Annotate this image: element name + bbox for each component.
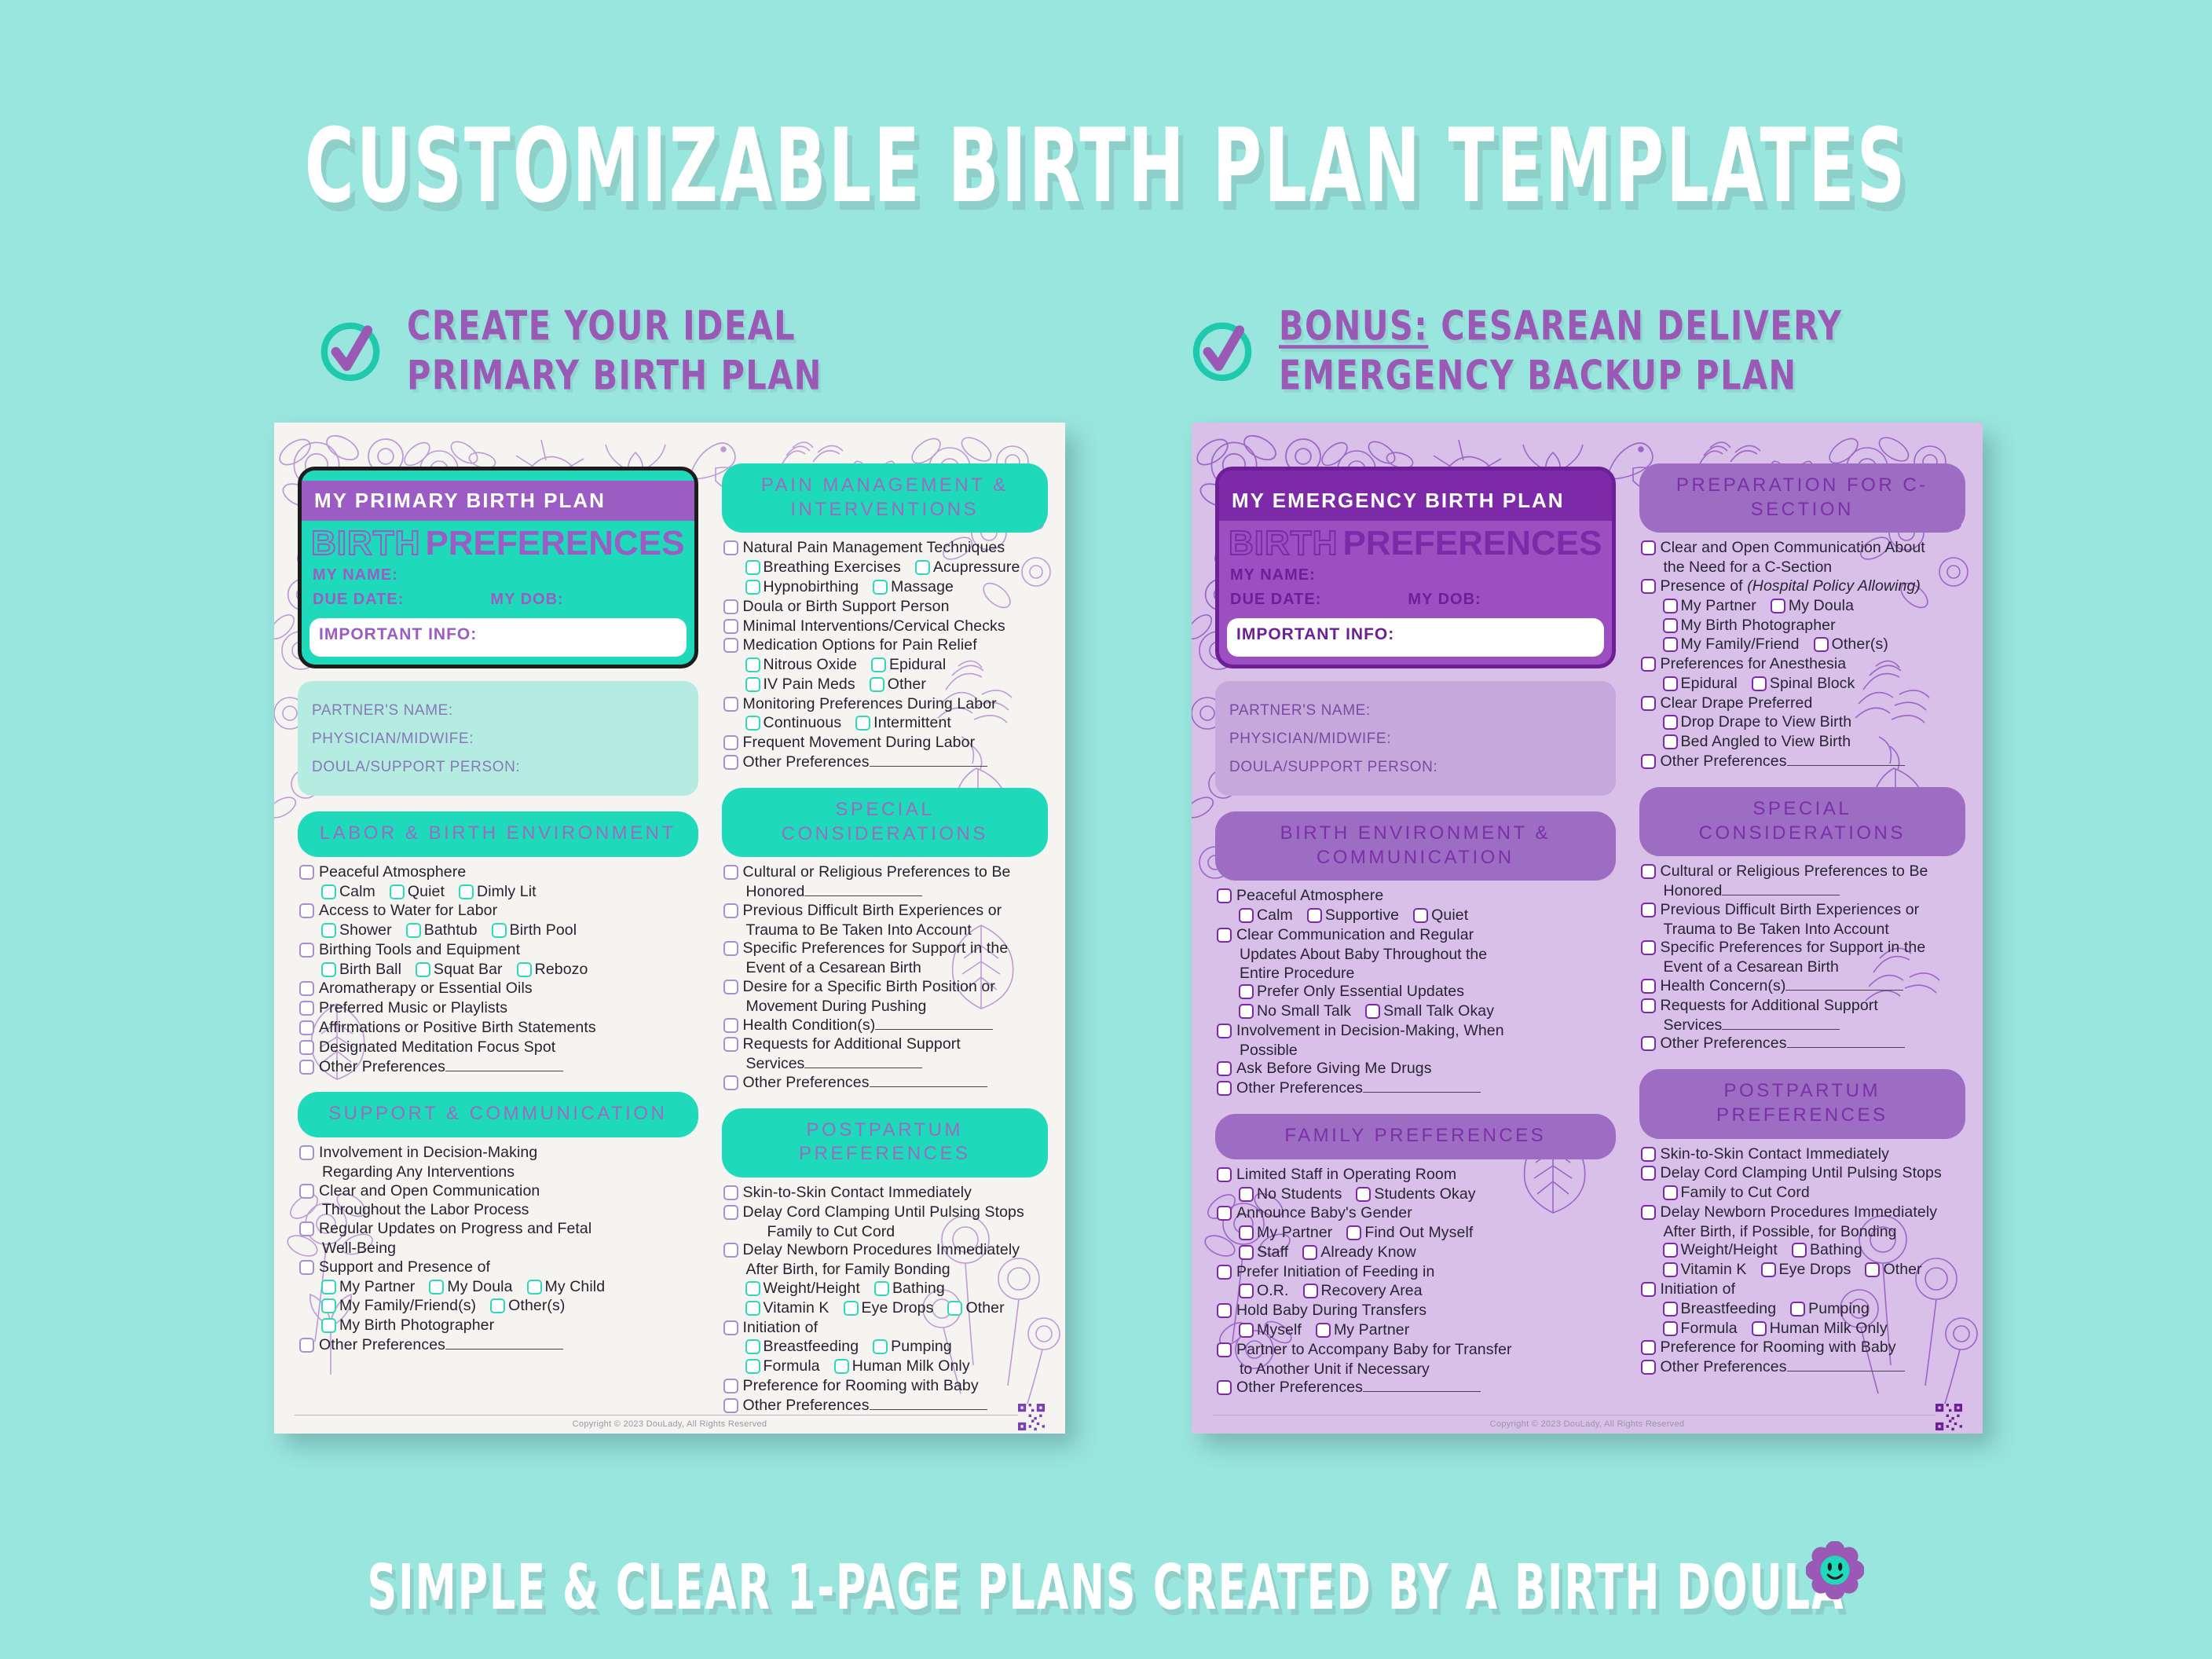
checkbox-option[interactable]: My Child	[527, 1278, 606, 1297]
checklist-item[interactable]: Skin-to-Skin Contact Immediately	[1641, 1145, 1962, 1164]
checkbox-icon[interactable]	[723, 980, 738, 994]
checkbox-option[interactable]: Other(s)	[490, 1297, 565, 1316]
checklist-item[interactable]: Specific Preferences for Support in the	[1641, 939, 1962, 958]
checkbox-icon[interactable]	[1239, 1225, 1254, 1240]
checklist-item[interactable]: Preference for Rooming with Baby	[723, 1377, 1045, 1396]
checkbox-option[interactable]: My Birth Photographer	[1663, 617, 1836, 635]
checkbox-icon[interactable]	[299, 865, 314, 880]
checkbox-icon[interactable]	[1663, 599, 1678, 613]
checkbox-icon[interactable]	[299, 1001, 314, 1016]
checkbox-option[interactable]: Students Okay	[1356, 1185, 1475, 1204]
checklist-item[interactable]: Partner to Accompany Baby for Transfer	[1217, 1341, 1613, 1360]
checklist-item[interactable]: Access to Water for Labor	[299, 902, 695, 921]
checklist-item[interactable]: Involvement in Decision-Making, When	[1217, 1022, 1613, 1041]
checklist-item[interactable]: Clear Drape Preferred	[1641, 694, 1962, 713]
checkbox-option[interactable]: Hypnobirthing	[745, 578, 859, 597]
checkbox-option[interactable]: Prefer Only Essential Updates	[1239, 983, 1464, 1002]
checkbox-icon[interactable]	[1641, 657, 1656, 672]
checkbox-icon[interactable]	[1217, 888, 1232, 903]
write-in-line[interactable]	[1363, 1081, 1481, 1093]
write-in-line[interactable]	[1787, 1036, 1905, 1048]
checklist-item[interactable]: Other Preferences	[1217, 1379, 1613, 1397]
checkbox-option[interactable]: Nitrous Oxide	[745, 656, 857, 675]
checkbox-icon[interactable]	[723, 1320, 738, 1335]
checklist-item[interactable]: Other Preferences	[723, 753, 1045, 772]
checkbox-icon[interactable]	[1217, 1024, 1232, 1038]
checkbox-option[interactable]: Calm	[321, 883, 375, 902]
checkbox-icon[interactable]	[1641, 1205, 1656, 1220]
checkbox-icon[interactable]	[299, 1145, 314, 1160]
checkbox-icon[interactable]	[723, 1075, 738, 1090]
checkbox-icon[interactable]	[723, 1018, 738, 1033]
checkbox-icon[interactable]	[723, 540, 738, 555]
checklist-item[interactable]: Announce Baby's Gender	[1217, 1204, 1613, 1223]
checkbox-icon[interactable]	[871, 657, 886, 672]
checkbox-icon[interactable]	[723, 599, 738, 614]
checklist-item[interactable]: Other Preferences	[1641, 1358, 1962, 1377]
checklist-item[interactable]: Designated Meditation Focus Spot	[299, 1038, 695, 1057]
checkbox-icon[interactable]	[1239, 1284, 1254, 1298]
important-info-field[interactable]: IMPORTANT INFO:	[1227, 618, 1604, 657]
checkbox-option[interactable]: No Small Talk	[1239, 1002, 1351, 1021]
checkbox-icon[interactable]	[745, 716, 760, 731]
checkbox-icon[interactable]	[1752, 676, 1767, 691]
primary-plan-id-card[interactable]: MY PRIMARY BIRTH PLAN BIRTH PREFERENCES …	[298, 467, 698, 668]
checkbox-icon[interactable]	[873, 1339, 888, 1354]
checklist-item[interactable]: Other Preferences	[1217, 1079, 1613, 1098]
checkbox-option[interactable]: Bathtub	[406, 921, 478, 940]
checkbox-option[interactable]: Eye Drops	[844, 1299, 934, 1318]
checklist-item[interactable]: Peaceful Atmosphere	[299, 863, 695, 882]
checklist-item[interactable]: Health Concern(s)	[1641, 977, 1962, 996]
write-in-line[interactable]	[870, 1075, 987, 1087]
checkbox-icon[interactable]	[1663, 734, 1678, 749]
primary-birth-plan-sheet[interactable]: MY PRIMARY BIRTH PLAN BIRTH PREFERENCES …	[274, 423, 1065, 1434]
checkbox-icon[interactable]	[1663, 1262, 1678, 1277]
checkbox-icon[interactable]	[1346, 1225, 1361, 1240]
checkbox-icon[interactable]	[1663, 637, 1678, 652]
checklist-item[interactable]: Preferred Music or Playlists	[299, 999, 695, 1018]
checklist-item[interactable]: Desire for a Specific Birth Position or	[723, 978, 1045, 997]
checkbox-icon[interactable]	[299, 1040, 314, 1055]
checklist-item[interactable]: Other Preferences	[1641, 1035, 1962, 1053]
checkbox-icon[interactable]	[1761, 1262, 1776, 1277]
checkbox-icon[interactable]	[915, 560, 930, 575]
checkbox-icon[interactable]	[321, 1280, 336, 1295]
checkbox-option[interactable]: No Students	[1239, 1185, 1342, 1204]
checkbox-icon[interactable]	[1217, 1061, 1232, 1076]
checkbox-option[interactable]: My Partner	[321, 1278, 415, 1297]
checklist-item[interactable]: Natural Pain Management Techniques	[723, 539, 1045, 558]
checkbox-option[interactable]: My Partner	[1663, 597, 1756, 616]
checkbox-option[interactable]: Staff	[1239, 1243, 1288, 1262]
checklist-item[interactable]: Other Preferences	[723, 1074, 1045, 1093]
checkbox-icon[interactable]	[1641, 1282, 1656, 1297]
checkbox-option[interactable]: Bathing	[874, 1280, 945, 1298]
checklist-item[interactable]: Initiation of	[723, 1319, 1045, 1338]
write-in-line[interactable]	[1363, 1380, 1481, 1392]
checkbox-option[interactable]: O.R.	[1239, 1282, 1289, 1301]
checklist-item[interactable]: Doula or Birth Support Person	[723, 598, 1045, 617]
physician-midwife-field[interactable]: PHYSICIAN/MIDWIFE:	[1229, 725, 1602, 753]
checkbox-option[interactable]: Already Know	[1302, 1243, 1416, 1262]
write-in-line[interactable]	[804, 884, 922, 896]
checkbox-option[interactable]: My Family/Friend	[1663, 635, 1800, 654]
checklist-item[interactable]: Skin-to-Skin Contact Immediately	[723, 1184, 1045, 1203]
checkbox-icon[interactable]	[299, 1020, 314, 1035]
checkbox-icon[interactable]	[1663, 715, 1678, 730]
checkbox-option[interactable]: Family to Cut Cord	[1663, 1184, 1810, 1203]
checkbox-option[interactable]: Squat Bar	[416, 961, 503, 980]
checklist-item[interactable]: Clear Communication and Regular	[1217, 926, 1613, 945]
write-in-line[interactable]	[804, 1057, 922, 1068]
checkbox-icon[interactable]	[723, 1185, 738, 1200]
checkbox-icon[interactable]	[745, 1301, 760, 1316]
checkbox-icon[interactable]	[1641, 1147, 1656, 1162]
checkbox-option[interactable]: Birth Pool	[492, 921, 577, 940]
checkbox-icon[interactable]	[1217, 1206, 1232, 1221]
checkbox-option[interactable]: Quiet	[390, 883, 445, 902]
checkbox-icon[interactable]	[1641, 579, 1656, 594]
checklist-item[interactable]: Other Preferences	[723, 1397, 1045, 1415]
checkbox-icon[interactable]	[1356, 1187, 1371, 1202]
checkbox-icon[interactable]	[517, 962, 532, 977]
checkbox-icon[interactable]	[1641, 754, 1656, 769]
write-in-line[interactable]	[1785, 979, 1903, 991]
checkbox-icon[interactable]	[1814, 637, 1829, 652]
checkbox-option[interactable]: Birth Ball	[321, 961, 401, 980]
checkbox-option[interactable]: Drop Drape to View Birth	[1663, 713, 1852, 732]
checkbox-icon[interactable]	[321, 1318, 336, 1333]
checkbox-icon[interactable]	[723, 1379, 738, 1393]
checkbox-option[interactable]: Weight/Height	[1663, 1241, 1778, 1260]
checkbox-option[interactable]: Spinal Block	[1752, 675, 1855, 694]
checklist-item[interactable]: Peaceful Atmosphere	[1217, 887, 1613, 906]
emergency-plan-id-card[interactable]: MY EMERGENCY BIRTH PLAN BIRTH PREFERENCE…	[1215, 467, 1616, 668]
write-in-line[interactable]	[1722, 1018, 1840, 1030]
checkbox-icon[interactable]	[490, 1298, 505, 1313]
write-in-line[interactable]	[1722, 884, 1840, 895]
due-date-field[interactable]: DUE DATE:	[1230, 591, 1321, 608]
checkbox-icon[interactable]	[745, 1281, 760, 1296]
checkbox-icon[interactable]	[1217, 1265, 1232, 1280]
checkbox-icon[interactable]	[723, 638, 738, 653]
checkbox-icon[interactable]	[1239, 984, 1254, 999]
physician-midwife-field[interactable]: PHYSICIAN/MIDWIFE:	[312, 725, 684, 753]
write-in-line[interactable]	[875, 1018, 993, 1030]
checkbox-icon[interactable]	[723, 941, 738, 956]
checkbox-option[interactable]: Breathing Exercises	[745, 558, 901, 577]
partner-name-field[interactable]: PARTNER'S NAME:	[1229, 697, 1602, 725]
checklist-item[interactable]: Hold Baby During Transfers	[1217, 1302, 1613, 1320]
checkbox-option[interactable]: Weight/Height	[745, 1280, 860, 1298]
checkbox-icon[interactable]	[321, 962, 336, 977]
checkbox-icon[interactable]	[1641, 1360, 1656, 1375]
checkbox-icon[interactable]	[1663, 1185, 1678, 1200]
checklist-item[interactable]: Health Condition(s)	[723, 1016, 1045, 1035]
checkbox-icon[interactable]	[1307, 908, 1322, 923]
checkbox-option[interactable]: My Partner	[1239, 1224, 1332, 1243]
checkbox-icon[interactable]	[1641, 540, 1656, 555]
checkbox-icon[interactable]	[723, 1037, 738, 1052]
checkbox-icon[interactable]	[745, 657, 760, 672]
checklist-item[interactable]: Prefer Initiation of Feeding in	[1217, 1263, 1613, 1282]
write-in-line[interactable]	[870, 755, 987, 767]
checkbox-option[interactable]: Massage	[873, 578, 954, 597]
checklist-item[interactable]: Minimal Interventions/Cervical Checks	[723, 617, 1045, 636]
checkbox-option[interactable]: My Birth Photographer	[321, 1317, 494, 1335]
checkbox-icon[interactable]	[1413, 908, 1428, 923]
checkbox-icon[interactable]	[492, 923, 507, 938]
checkbox-option[interactable]: IV Pain Meds	[745, 676, 855, 694]
checklist-item[interactable]: Cultural or Religious Preferences to Be	[723, 863, 1045, 882]
checklist-item[interactable]: Delay Cord Clamping Until Pulsing Stops	[1641, 1164, 1962, 1183]
checkbox-icon[interactable]	[406, 923, 421, 938]
partner-name-field[interactable]: PARTNER'S NAME:	[312, 697, 684, 725]
doula-support-field[interactable]: DOULA/SUPPORT PERSON:	[312, 753, 684, 782]
checklist-item[interactable]: Other Preferences	[299, 1336, 695, 1355]
checklist-item[interactable]: Support and Presence of	[299, 1258, 695, 1277]
checkbox-icon[interactable]	[1641, 998, 1656, 1013]
checkbox-icon[interactable]	[299, 1338, 314, 1353]
checkbox-icon[interactable]	[1663, 676, 1678, 691]
checkbox-icon[interactable]	[1217, 1167, 1232, 1182]
checkbox-option[interactable]: Other	[870, 676, 926, 694]
checkbox-icon[interactable]	[299, 981, 314, 996]
checkbox-option[interactable]: Formula	[1663, 1320, 1738, 1339]
section-title: FAMILY PREFERENCES	[1215, 1114, 1616, 1159]
checkbox-icon[interactable]	[1641, 864, 1656, 879]
checkbox-option[interactable]: Vitamin K	[1663, 1261, 1747, 1280]
checkbox-option[interactable]: Small Talk Okay	[1365, 1002, 1494, 1021]
checkbox-icon[interactable]	[1771, 599, 1785, 613]
checkbox-option[interactable]: Acupressure	[915, 558, 1020, 577]
checklist-item[interactable]: Frequent Movement During Labor	[723, 734, 1045, 753]
checklist-item[interactable]: Other Preferences	[1641, 753, 1962, 771]
checklist-item[interactable]: Monitoring Preferences During Labor	[723, 695, 1045, 714]
checklist-item[interactable]: Delay Newborn Procedures Immediately	[723, 1241, 1045, 1260]
checkbox-icon[interactable]	[723, 1243, 738, 1258]
checkbox-icon[interactable]	[1641, 940, 1656, 955]
checkbox-icon[interactable]	[527, 1280, 542, 1295]
checkbox-icon[interactable]	[1641, 1036, 1656, 1051]
checkbox-option[interactable]: Rebozo	[517, 961, 588, 980]
checkbox-icon[interactable]	[299, 943, 314, 958]
checkbox-icon[interactable]	[723, 1398, 738, 1413]
checkbox-icon[interactable]	[1641, 979, 1656, 994]
checkbox-icon[interactable]	[834, 1359, 849, 1374]
checkbox-option[interactable]: Pumping	[1790, 1300, 1870, 1319]
checkbox-option[interactable]: Epidural	[871, 656, 946, 675]
checkbox-icon[interactable]	[1217, 1081, 1232, 1096]
checkbox-icon[interactable]	[1663, 1243, 1678, 1258]
checkbox-option[interactable]: Recovery Area	[1303, 1282, 1423, 1301]
checklist-item[interactable]: Cultural or Religious Preferences to Be	[1641, 862, 1962, 881]
checklist-item[interactable]: Other Preferences	[299, 1058, 695, 1077]
checkbox-icon[interactable]	[1663, 1321, 1678, 1336]
checkbox-option[interactable]: Dimly Lit	[459, 883, 537, 902]
checkbox-option[interactable]: Breastfeeding	[1663, 1300, 1777, 1319]
checkbox-icon[interactable]	[723, 735, 738, 750]
checkbox-option[interactable]: Shower	[321, 921, 392, 940]
my-dob-field[interactable]: MY DOB:	[1408, 591, 1481, 608]
checkbox-icon[interactable]	[723, 903, 738, 918]
write-in-line[interactable]	[445, 1338, 563, 1350]
checklist-item[interactable]: Requests for Additional Support	[723, 1035, 1045, 1054]
checkbox-option[interactable]: Eye Drops	[1761, 1261, 1851, 1280]
checklist-item[interactable]: Limited Staff in Operating Room	[1217, 1166, 1613, 1185]
checkbox-option[interactable]: My Partner	[1316, 1321, 1409, 1340]
checkbox-icon[interactable]	[1239, 1323, 1254, 1338]
checkbox-icon[interactable]	[874, 1281, 889, 1296]
checkbox-icon[interactable]	[1663, 618, 1678, 633]
checklist-item[interactable]: Delay Newborn Procedures Immediately	[1641, 1203, 1962, 1222]
checkbox-option[interactable]: Quiet	[1413, 906, 1468, 925]
checkbox-icon[interactable]	[299, 1060, 314, 1075]
checklist-item[interactable]: Ask Before Giving Me Drugs	[1217, 1060, 1613, 1079]
checkbox-icon[interactable]	[723, 1205, 738, 1220]
checklist-item[interactable]: Delay Cord Clamping Until Pulsing Stops	[723, 1203, 1045, 1222]
checkbox-icon[interactable]	[1792, 1243, 1807, 1258]
write-in-line[interactable]	[1787, 1360, 1905, 1372]
due-date-dob-row[interactable]: DUE DATE:MY DOB:	[302, 588, 694, 612]
checkbox-icon[interactable]	[855, 716, 870, 731]
checkbox-icon[interactable]	[873, 580, 888, 595]
checkbox-icon[interactable]	[745, 677, 760, 692]
checkbox-icon[interactable]	[1316, 1323, 1331, 1338]
checkbox-icon[interactable]	[745, 1359, 760, 1374]
important-info-field[interactable]: IMPORTANT INFO:	[309, 618, 687, 657]
checkbox-option[interactable]: Human Milk Only	[834, 1357, 970, 1376]
checkbox-icon[interactable]	[1663, 1302, 1678, 1317]
checkbox-icon[interactable]	[844, 1301, 859, 1316]
checkbox-icon[interactable]	[723, 865, 738, 880]
checklist-item[interactable]: Aromatherapy or Essential Oils	[299, 980, 695, 998]
checklist-item[interactable]: Preference for Rooming with Baby	[1641, 1339, 1962, 1357]
checkbox-icon[interactable]	[723, 755, 738, 770]
checkbox-option[interactable]: Other	[1865, 1261, 1921, 1280]
checklist-item[interactable]: Regular Updates on Progress and Fetal	[299, 1220, 695, 1239]
checkbox-icon[interactable]	[870, 677, 884, 692]
checkbox-icon[interactable]	[1365, 1004, 1380, 1019]
checkbox-icon[interactable]	[416, 962, 430, 977]
checkbox-icon[interactable]	[299, 1260, 314, 1275]
checklist-item[interactable]: Clear and Open Communication	[299, 1182, 695, 1201]
checkbox-option[interactable]: My Family/Friend(s)	[321, 1297, 476, 1316]
primary-contacts-box[interactable]: PARTNER'S NAME: PHYSICIAN/MIDWIFE: DOULA…	[298, 681, 698, 796]
checkbox-option[interactable]: Vitamin K	[745, 1299, 829, 1318]
checkbox-icon[interactable]	[1217, 1342, 1232, 1357]
checklist-item[interactable]: Medication Options for Pain Relief	[723, 636, 1045, 655]
checkbox-icon[interactable]	[1641, 696, 1656, 711]
write-in-line[interactable]	[445, 1060, 563, 1071]
checkbox-icon[interactable]	[321, 1298, 336, 1313]
checkbox-icon[interactable]	[745, 1339, 760, 1354]
emergency-birth-plan-sheet[interactable]: MY EMERGENCY BIRTH PLAN BIRTH PREFERENCE…	[1192, 423, 1983, 1434]
checkbox-option[interactable]: Other	[947, 1299, 1004, 1318]
checkbox-option[interactable]: Find Out Myself	[1346, 1224, 1473, 1243]
checkbox-option[interactable]: My Doula	[429, 1278, 512, 1297]
due-date-dob-row[interactable]: DUE DATE:MY DOB:	[1219, 588, 1612, 612]
checkbox-option[interactable]: Formula	[745, 1357, 820, 1376]
checkbox-option[interactable]: Myself	[1239, 1321, 1302, 1340]
checkbox-icon[interactable]	[1217, 1380, 1232, 1395]
checkbox-icon[interactable]	[299, 1221, 314, 1236]
checkbox-option[interactable]: Supportive	[1307, 906, 1399, 925]
checkbox-icon[interactable]	[745, 560, 760, 575]
checkbox-icon[interactable]	[1641, 1340, 1656, 1355]
checklist-item[interactable]: Birthing Tools and Equipment	[299, 941, 695, 960]
checkbox-icon[interactable]	[1239, 908, 1254, 923]
checkbox-option[interactable]: Other(s)	[1814, 635, 1888, 654]
checkbox-option[interactable]: Intermittent	[855, 714, 951, 733]
checklist-item[interactable]: Specific Preferences for Support in the	[723, 939, 1045, 958]
checklist-item[interactable]: Presence of (Hospital Policy Allowing)	[1641, 577, 1962, 596]
checkbox-icon[interactable]	[1641, 903, 1656, 917]
checkbox-option[interactable]: Bed Angled to View Birth	[1663, 733, 1851, 752]
checkbox-icon[interactable]	[299, 903, 314, 918]
my-name-field[interactable]: MY NAME:	[302, 563, 694, 588]
checkbox-icon[interactable]	[1752, 1321, 1767, 1336]
checkbox-icon[interactable]	[723, 619, 738, 634]
checkbox-option[interactable]: Bathing	[1792, 1241, 1862, 1260]
checklist-item[interactable]: Involvement in Decision-Making	[299, 1144, 695, 1163]
checkbox-icon[interactable]	[745, 580, 760, 595]
checkbox-icon[interactable]	[723, 697, 738, 712]
checkbox-icon[interactable]	[429, 1280, 444, 1295]
checkbox-option[interactable]: Calm	[1239, 906, 1293, 925]
checkbox-icon[interactable]	[321, 884, 336, 899]
checkbox-icon[interactable]	[1239, 1187, 1254, 1202]
checkbox-icon[interactable]	[1217, 1303, 1232, 1318]
checkbox-icon[interactable]	[299, 1184, 314, 1199]
my-name-field[interactable]: MY NAME:	[1219, 563, 1612, 588]
checkbox-icon[interactable]	[390, 884, 405, 899]
emergency-contacts-box[interactable]: PARTNER'S NAME: PHYSICIAN/MIDWIFE: DOULA…	[1215, 681, 1616, 796]
due-date-field[interactable]: DUE DATE:	[313, 591, 404, 608]
checklist-item[interactable]: Clear and Open Communication About	[1641, 539, 1962, 558]
doula-support-field[interactable]: DOULA/SUPPORT PERSON:	[1229, 753, 1602, 782]
checkbox-option[interactable]: Epidural	[1663, 675, 1738, 694]
checkbox-option[interactable]: Breastfeeding	[745, 1338, 859, 1357]
checkbox-icon[interactable]	[459, 884, 474, 899]
checkbox-icon[interactable]	[1217, 928, 1232, 943]
checklist-item-label: Frequent Movement During Labor	[743, 734, 976, 753]
checklist-item[interactable]: Requests for Additional Support	[1641, 997, 1962, 1016]
checkbox-icon[interactable]	[1239, 1245, 1254, 1260]
checkbox-icon[interactable]	[1865, 1262, 1880, 1277]
my-dob-field[interactable]: MY DOB:	[490, 591, 563, 608]
checkbox-option[interactable]: Continuous	[745, 714, 842, 733]
write-in-line[interactable]	[1787, 754, 1905, 766]
checkbox-icon[interactable]	[321, 923, 336, 938]
checkbox-icon[interactable]	[1303, 1284, 1318, 1298]
checkbox-icon[interactable]	[1239, 1004, 1254, 1019]
write-in-line[interactable]	[870, 1398, 987, 1410]
checklist-item[interactable]: Previous Difficult Birth Experiences or	[723, 902, 1045, 921]
checkbox-icon[interactable]	[1790, 1302, 1805, 1317]
checkbox-option[interactable]: Pumping	[873, 1338, 952, 1357]
checkbox-icon[interactable]	[947, 1301, 962, 1316]
checklist-item[interactable]: Affirmations or Positive Birth Statement…	[299, 1019, 695, 1038]
checklist-item[interactable]: Previous Difficult Birth Experiences or	[1641, 901, 1962, 920]
checklist-item[interactable]: Preferences for Anesthesia	[1641, 655, 1962, 674]
checkbox-option[interactable]: Human Milk Only	[1752, 1320, 1888, 1339]
checklist-item[interactable]: Initiation of	[1641, 1280, 1962, 1299]
checkbox-icon[interactable]	[1302, 1245, 1317, 1260]
checkbox-option[interactable]: My Doula	[1771, 597, 1854, 616]
checkbox-icon[interactable]	[1641, 1166, 1656, 1181]
